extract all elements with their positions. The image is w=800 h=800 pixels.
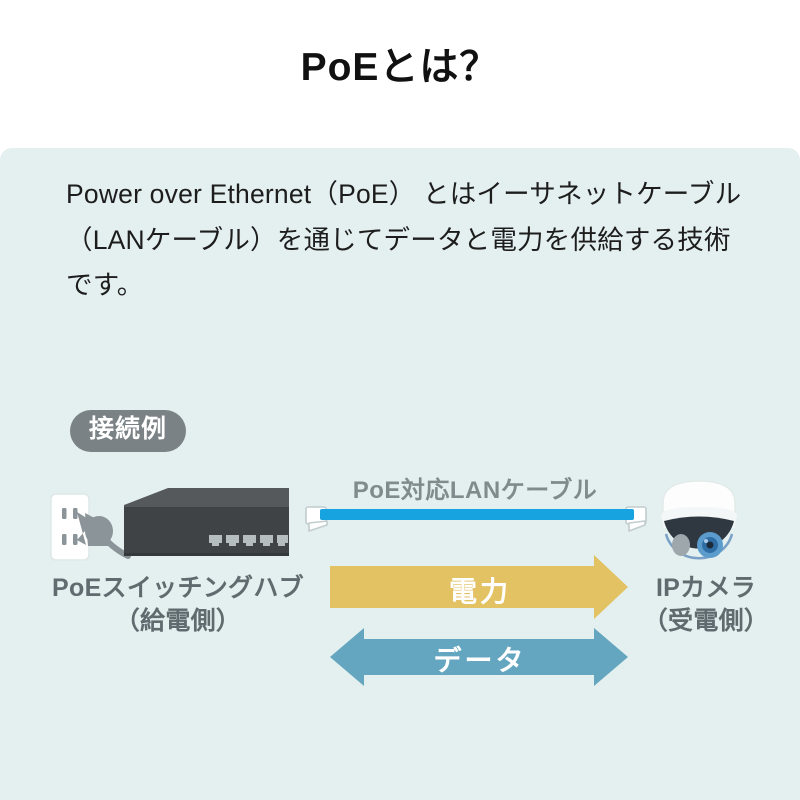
- cable-label: PoE対応LANケーブル: [330, 470, 620, 505]
- page-title: PoEとは？: [0, 47, 800, 90]
- endpoint-hub-name: PoEスイッチングハブ: [52, 574, 304, 602]
- endpoint-caption-hub: PoEスイッチングハブ （給電側）: [28, 572, 328, 638]
- connection-example-badge: 接続例: [70, 410, 186, 452]
- power-arrow-label: 電力: [330, 578, 630, 606]
- data-arrow-label: データ: [330, 647, 630, 675]
- endpoint-camera-name: IPカメラ: [656, 574, 756, 602]
- description-paragraph: Power over Ethernet（PoE） とはイーサネットケーブル（LA…: [66, 172, 756, 309]
- endpoint-caption-camera: IPカメラ （受電側）: [620, 572, 792, 638]
- endpoint-hub-role: （給電側）: [28, 605, 328, 638]
- poe-infographic-page: PoEとは？ Power over Ethernet（PoE） とはイーサネット…: [0, 0, 800, 800]
- endpoint-camera-role: （受電側）: [620, 605, 792, 638]
